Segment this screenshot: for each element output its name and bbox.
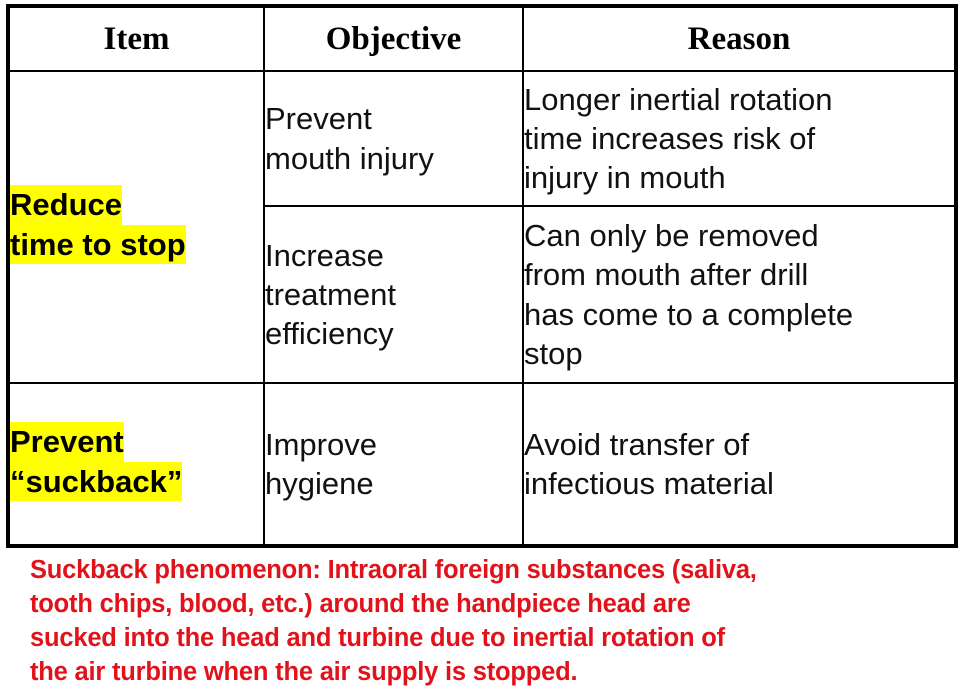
objective-line: Improve xyxy=(265,425,522,464)
objective-line: hygiene xyxy=(265,464,522,503)
suckback-note: Suckback phenomenon: Intraoral foreign s… xyxy=(30,554,940,690)
item-line: Prevent xyxy=(10,422,124,462)
column-header-reason: Reason xyxy=(523,6,956,71)
reason-line: from mouth after drill xyxy=(524,255,954,294)
reason-line: has come to a complete xyxy=(524,295,954,334)
objective-line: treatment xyxy=(265,275,522,314)
reason-cell: Longer inertial rotation time increases … xyxy=(523,71,956,206)
reason-line: time increases risk of xyxy=(524,119,954,158)
objective-line: Prevent xyxy=(265,99,522,138)
table-header-row: Item Objective Reason xyxy=(8,6,956,71)
reason-line: injury in mouth xyxy=(524,158,954,197)
note-line: the air turbine when the air supply is s… xyxy=(30,656,940,690)
slide-root: Item Objective Reason Reduce time to sto… xyxy=(0,0,960,689)
highlighted-item-label: Prevent “suckback” xyxy=(10,422,182,501)
objective-line: efficiency xyxy=(265,314,522,353)
objective-line: mouth injury xyxy=(265,139,522,178)
reason-line: Can only be removed xyxy=(524,216,954,255)
objective-cell: Increase treatment efficiency xyxy=(264,206,523,383)
column-header-item: Item xyxy=(8,6,264,71)
item-line: Reduce xyxy=(10,185,122,225)
reason-cell: Avoid transfer of infectious material xyxy=(523,383,956,546)
item-cell-prevent-suckback: Prevent “suckback” xyxy=(8,383,264,546)
note-line: Suckback phenomenon: Intraoral foreign s… xyxy=(30,554,940,588)
item-line: “suckback” xyxy=(10,462,182,502)
note-line: sucked into the head and turbine due to … xyxy=(30,622,940,656)
reason-line: Avoid transfer of xyxy=(524,425,954,464)
item-cell-reduce-time-to-stop: Reduce time to stop xyxy=(8,71,264,383)
objective-cell: Improve hygiene xyxy=(264,383,523,546)
objective-cell: Prevent mouth injury xyxy=(264,71,523,206)
highlighted-item-label: Reduce time to stop xyxy=(10,185,186,264)
spec-table: Item Objective Reason Reduce time to sto… xyxy=(6,4,958,548)
column-header-objective: Objective xyxy=(264,6,523,71)
reason-line: Longer inertial rotation xyxy=(524,80,954,119)
item-line: time to stop xyxy=(10,225,186,265)
spec-table-container: Item Objective Reason Reduce time to sto… xyxy=(6,4,954,548)
note-line: tooth chips, blood, etc.) around the han… xyxy=(30,588,940,622)
objective-line: Increase xyxy=(265,236,522,275)
table-row: Prevent “suckback” Improve hygiene Avoid… xyxy=(8,383,956,546)
table-row: Reduce time to stop Prevent mouth injury… xyxy=(8,71,956,206)
reason-line: infectious material xyxy=(524,464,954,503)
reason-line: stop xyxy=(524,334,954,373)
reason-cell: Can only be removed from mouth after dri… xyxy=(523,206,956,383)
